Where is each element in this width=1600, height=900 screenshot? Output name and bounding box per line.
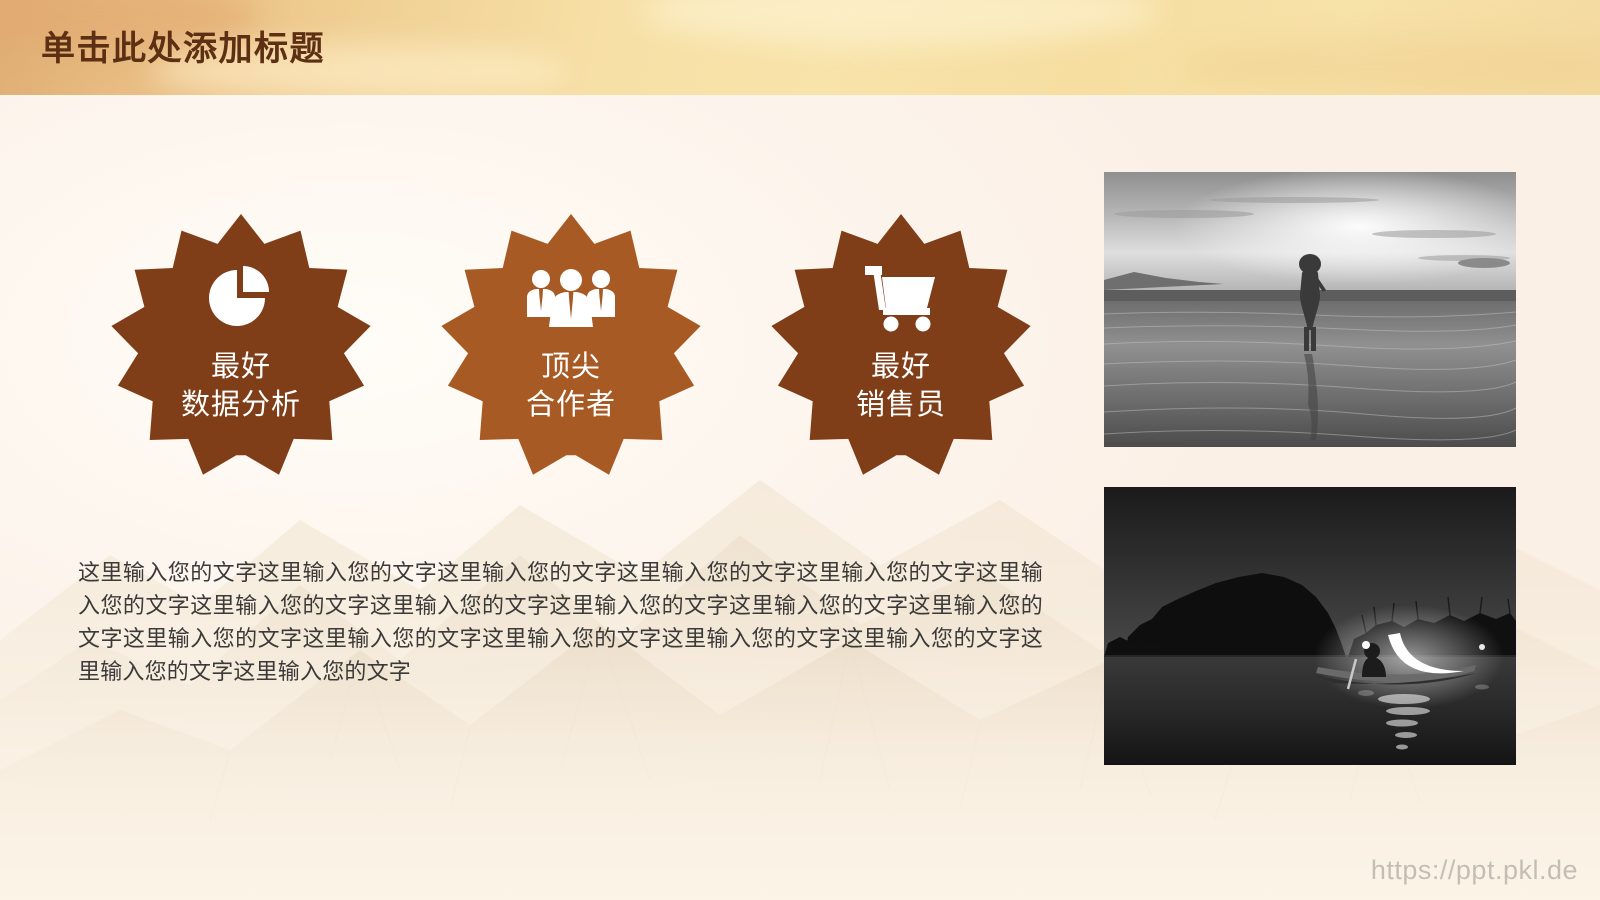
cloud-wisp-icon [640, 0, 1160, 46]
page-title: 单击此处添加标题 [41, 28, 325, 70]
badge-label-line1: 最好 [871, 348, 931, 386]
badge-label-line2: 数据分析 [181, 386, 301, 424]
badge-best-data-analysis[interactable]: 最好 数据分析 [96, 212, 386, 502]
photo-moon-boat-at-night[interactable] [1104, 487, 1516, 765]
badge-content: 最好 数据分析 [96, 262, 386, 424]
slide-canvas: 单击此处添加标题 最好 数据分析 [0, 0, 1600, 900]
badge-top-partner[interactable]: 顶尖 合作者 [426, 212, 716, 502]
badge-best-salesperson[interactable]: 最好 销售员 [756, 212, 1046, 502]
badge-label-line2: 销售员 [856, 386, 946, 424]
photo-child-at-sea[interactable] [1104, 172, 1516, 447]
badge-content: 顶尖 合作者 [426, 262, 716, 424]
badge-label-line1: 最好 [211, 348, 271, 386]
badge-label-line1: 顶尖 [541, 348, 601, 386]
cloud-wisp-icon [1180, 36, 1600, 95]
badge-label-line2: 合作者 [526, 386, 616, 424]
body-paragraph[interactable]: 这里输入您的文字这里输入您的文字这里输入您的文字这里输入您的文字这里输入您的文字… [78, 556, 1043, 688]
badge-group: 最好 数据分析 [96, 212, 1056, 502]
shopping-cart-icon [853, 262, 949, 334]
people-group-icon [523, 262, 619, 334]
pie-chart-icon [193, 262, 289, 334]
badge-content: 最好 销售员 [756, 262, 1046, 424]
site-watermark: https://ppt.pkl.de [1371, 855, 1578, 886]
